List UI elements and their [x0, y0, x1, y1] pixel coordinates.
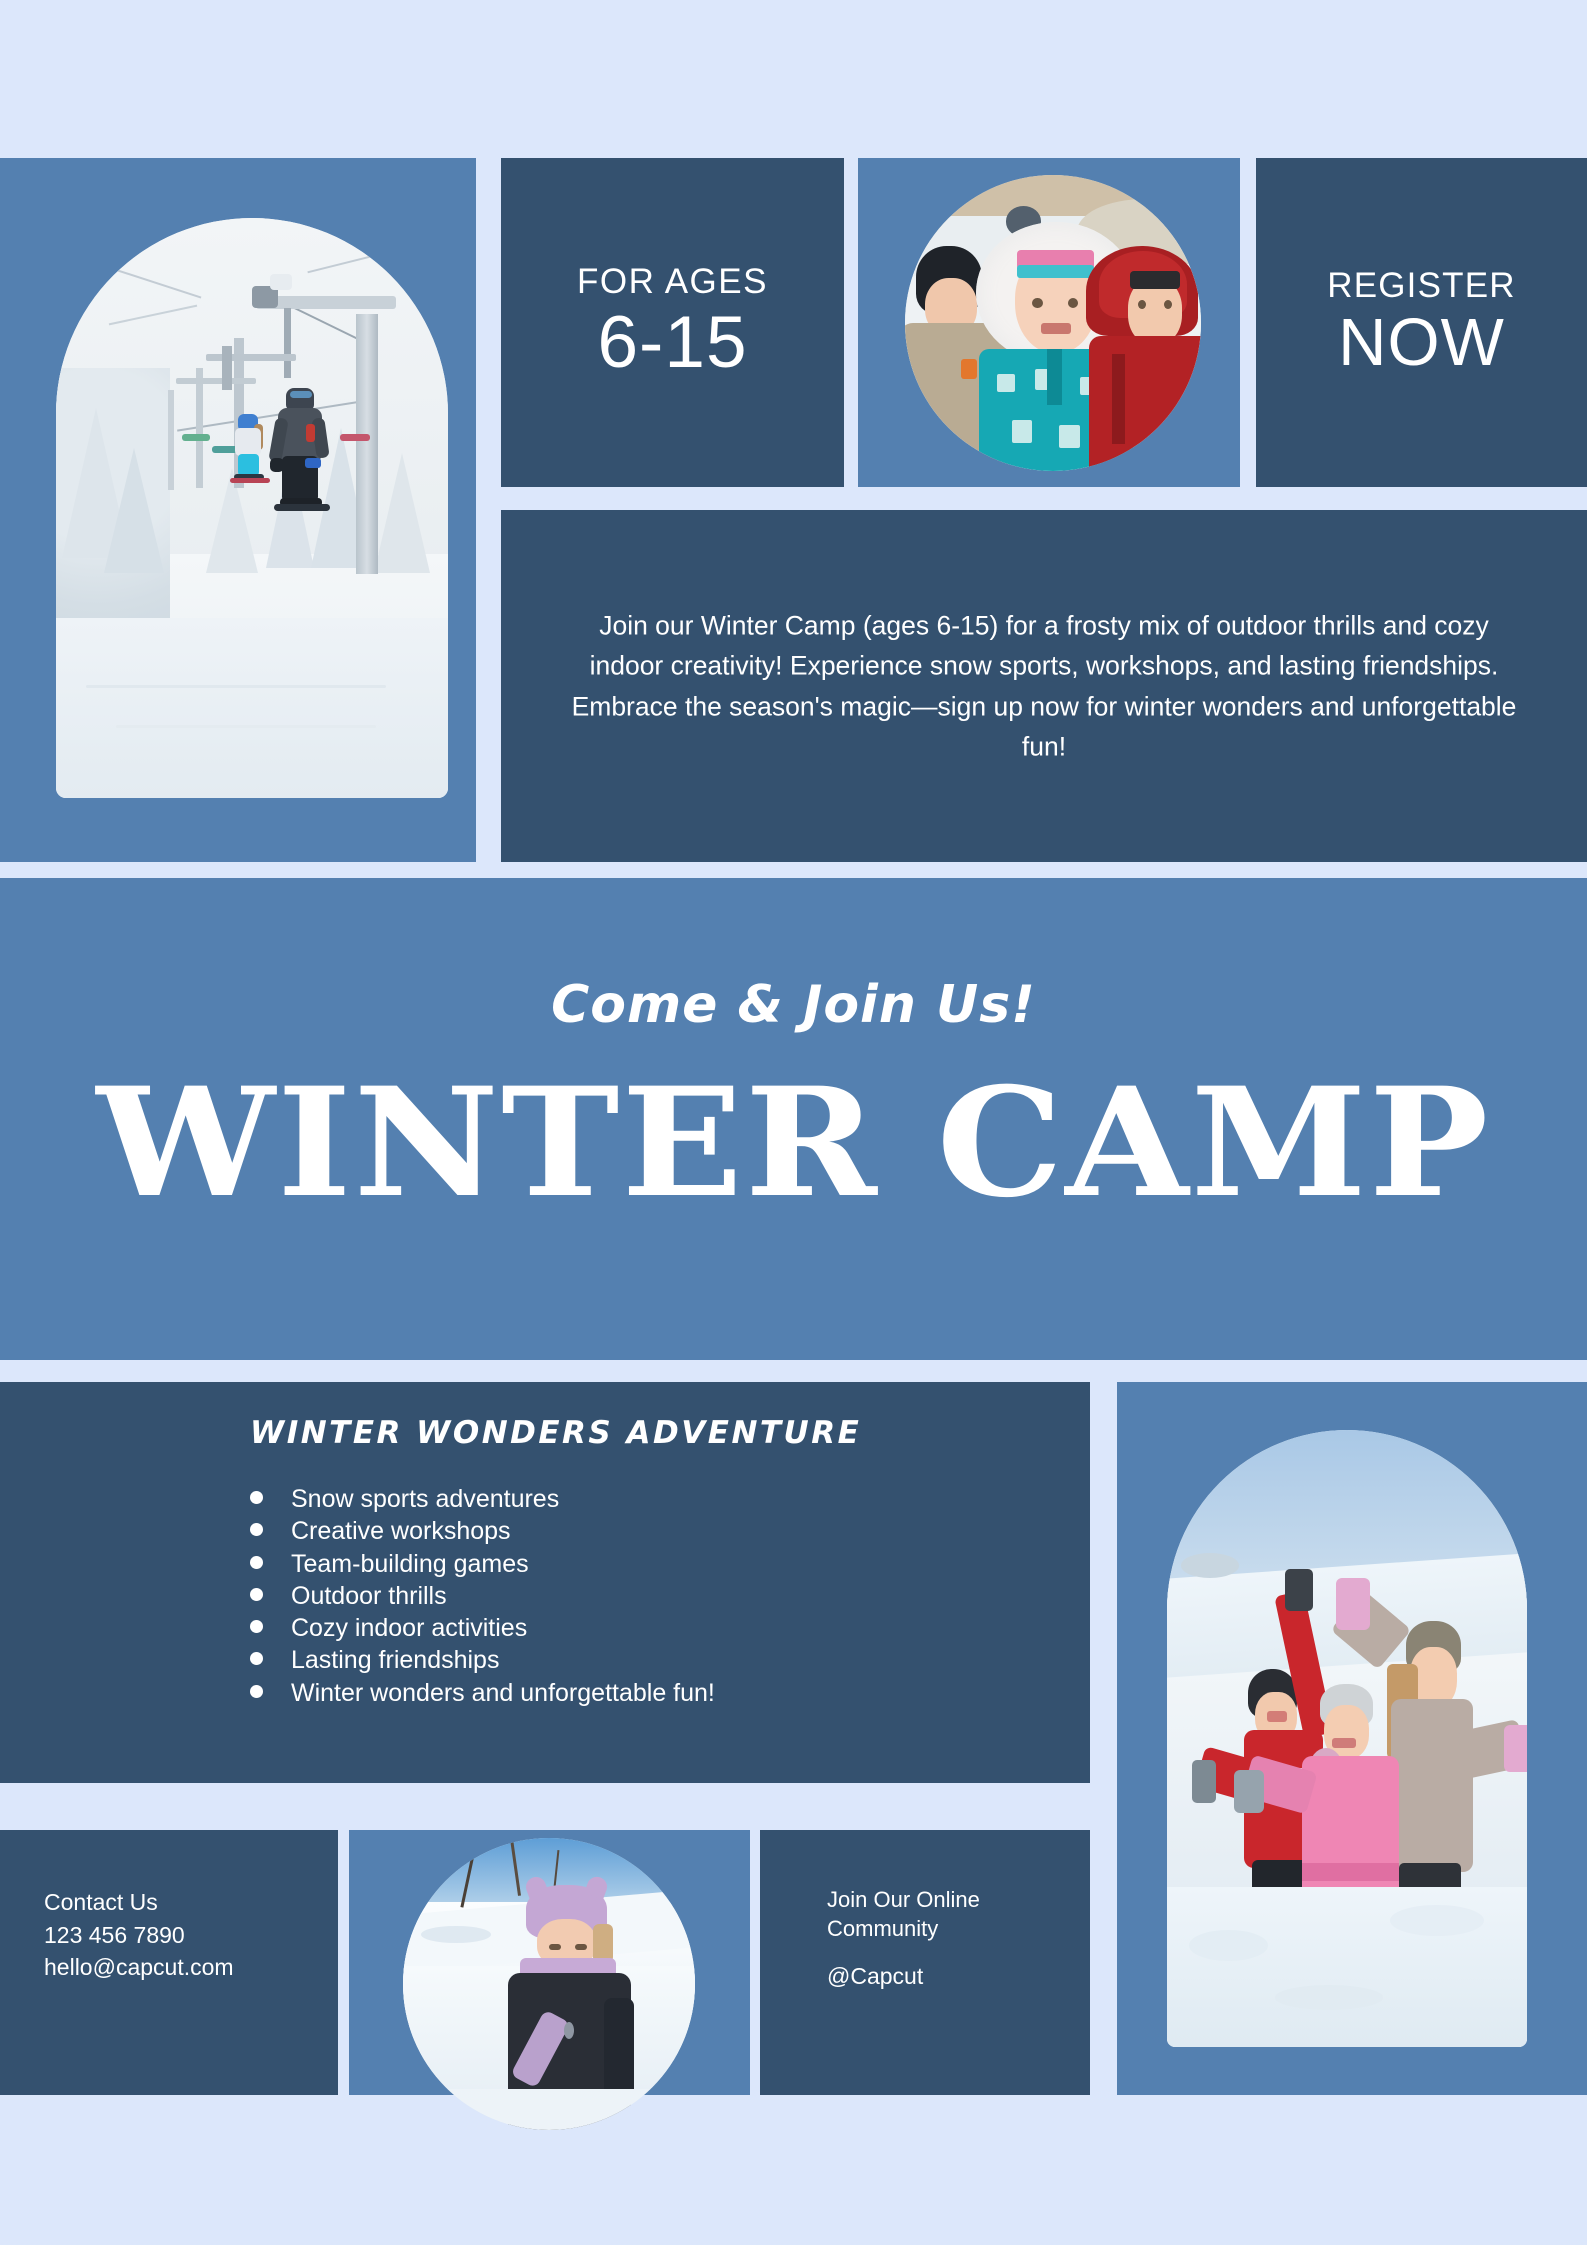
poster-canvas: FOR AGES 6-15: [0, 0, 1587, 2245]
list-item-label: Winter wonders and unforgettable fun!: [291, 1677, 715, 1709]
page-title: WINTER CAMP: [0, 1068, 1587, 1218]
hero-kicker: Come & Join Us!: [0, 975, 1587, 1035]
features-title: WINTER WONDERS ADVENTURE: [250, 1415, 861, 1451]
list-item: Creative workshops: [250, 1515, 990, 1547]
for-ages-panel: FOR AGES 6-15: [501, 158, 844, 487]
list-item: Team-building games: [250, 1548, 990, 1580]
list-item-label: Lasting friendships: [291, 1644, 499, 1676]
contact-phone[interactable]: 123 456 7890: [44, 1919, 234, 1952]
contact-block: Contact Us 123 456 7890 hello@capcut.com: [44, 1886, 234, 1984]
header-circle-photo-panel: [858, 158, 1240, 487]
bullet-icon: [250, 1523, 263, 1536]
register-label: REGISTER: [1327, 267, 1516, 306]
community-line-1: Join Our Online: [827, 1885, 980, 1914]
list-item: Winter wonders and unforgettable fun!: [250, 1677, 990, 1709]
bullet-icon: [250, 1556, 263, 1569]
three-children-jumping-snow-photo: [1167, 1430, 1527, 2047]
contact-email[interactable]: hello@capcut.com: [44, 1951, 234, 1984]
snowboarders-ski-lift-photo: [56, 218, 448, 798]
list-item: Cozy indoor activities: [250, 1612, 990, 1644]
list-item-label: Cozy indoor activities: [291, 1612, 527, 1644]
bullet-icon: [250, 1491, 263, 1504]
community-line-2: Community: [827, 1914, 980, 1943]
list-item-label: Outdoor thrills: [291, 1580, 447, 1612]
list-item: Snow sports adventures: [250, 1483, 990, 1515]
intro-paragraph: Join our Winter Camp (ages 6-15) for a f…: [559, 605, 1529, 766]
for-ages-value: 6-15: [597, 305, 747, 382]
contact-heading: Contact Us: [44, 1886, 234, 1919]
community-block: Join Our Online Community @Capcut: [827, 1885, 980, 1990]
list-item-label: Team-building games: [291, 1548, 529, 1580]
list-item: Outdoor thrills: [250, 1580, 990, 1612]
list-item-label: Snow sports adventures: [291, 1483, 559, 1515]
register-value: NOW: [1338, 308, 1505, 378]
list-item-label: Creative workshops: [291, 1515, 511, 1547]
community-handle[interactable]: @Capcut: [827, 1963, 980, 1990]
bullet-icon: [250, 1588, 263, 1601]
for-ages-label: FOR AGES: [577, 263, 768, 302]
register-now-panel[interactable]: REGISTER NOW: [1256, 158, 1587, 487]
features-list: Snow sports adventures Creative workshop…: [250, 1483, 990, 1709]
bullet-icon: [250, 1620, 263, 1633]
bullet-icon: [250, 1652, 263, 1665]
bottom-circle-photo-panel: [349, 1830, 750, 2095]
top-left-photo-panel: [0, 158, 476, 862]
girl-pink-hat-snow-photo: [403, 1838, 695, 2130]
bullet-icon: [250, 1685, 263, 1698]
intro-panel: Join our Winter Camp (ages 6-15) for a f…: [501, 510, 1587, 862]
three-children-winter-coats-photo: [905, 175, 1201, 471]
list-item: Lasting friendships: [250, 1644, 990, 1676]
bottom-right-photo-panel: [1117, 1382, 1587, 2095]
